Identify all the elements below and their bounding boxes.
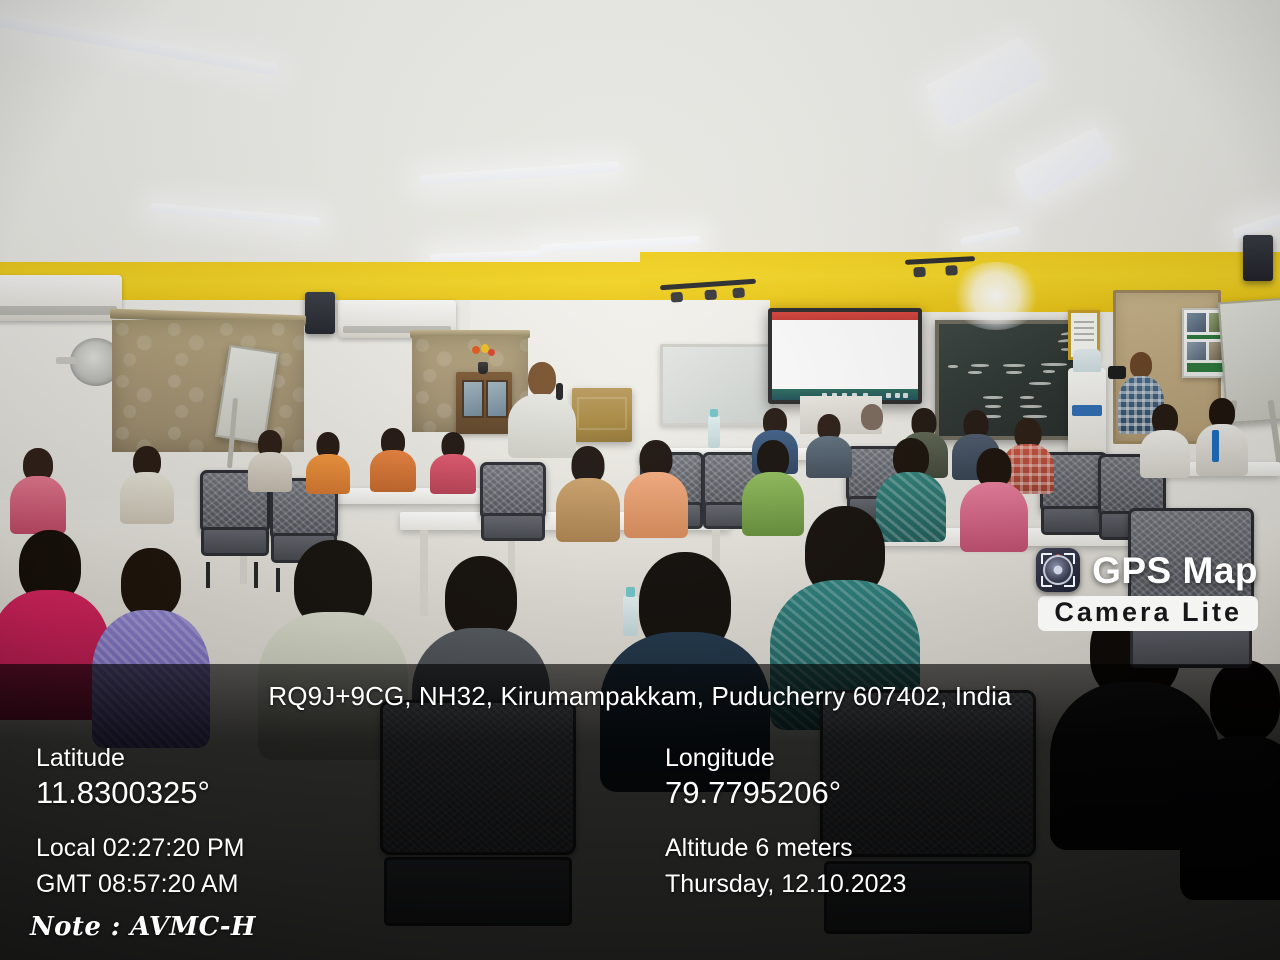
flower-vase [470,346,496,374]
longitude-value: 79.7795206° [665,774,841,813]
wall-speaker [1243,235,1273,281]
audience-member [306,432,350,494]
dome-light [950,262,1042,330]
audience-member [120,446,174,524]
longitude-label: Longitude [665,742,841,774]
gps-info-overlay: RQ9J+9CG, NH32, Kirumampakkam, Puducherr… [0,664,1280,960]
air-conditioner-unit [0,275,122,321]
local-time: Local 02:27:20 PM [36,831,244,867]
gmt-time: GMT 08:57:20 AM [36,867,238,903]
longitude-block: Longitude 79.7795206° [665,742,841,813]
audience-member [370,428,416,492]
latitude-value: 11.8300325° [36,774,210,813]
presentation-display-screen [768,308,922,404]
wall-speaker [305,292,335,334]
display-cabinet [456,372,512,434]
watermark-title: GPS Map [1092,552,1258,589]
water-bottle [708,416,720,448]
presenter [508,362,576,458]
gps-photo-screenshot: GPS Map Camera Lite RQ9J+9CG, NH32, Kiru… [0,0,1280,960]
microphone [556,383,563,400]
wooden-podium [572,388,632,442]
note-line: Note : AVMC-H [30,912,256,942]
water-dispenser [1068,368,1106,456]
address-line: RQ9J+9CG, NH32, Kirumampakkam, Puducherr… [0,681,1280,712]
audience-member [1140,404,1190,478]
altitude: Altitude 6 meters [665,831,853,867]
audience-member [624,440,688,538]
date: Thursday, 12.10.2023 [665,867,906,903]
audience-member [556,446,620,542]
camera [1108,366,1126,379]
latitude-label: Latitude [36,742,210,774]
watermark-subtitle: Camera Lite [1038,596,1258,631]
gps-map-watermark: GPS Map Camera Lite [1036,548,1258,631]
audience-member [1196,398,1248,476]
audience-member [960,448,1028,552]
audience-member [10,448,66,534]
latitude-block: Latitude 11.8300325° [36,742,210,813]
gps-camera-icon [1036,548,1080,592]
audience-chair [480,462,540,546]
audience-member [430,432,476,494]
audience-member [806,414,852,478]
lanyard [1212,430,1219,462]
audience-member [248,430,292,492]
